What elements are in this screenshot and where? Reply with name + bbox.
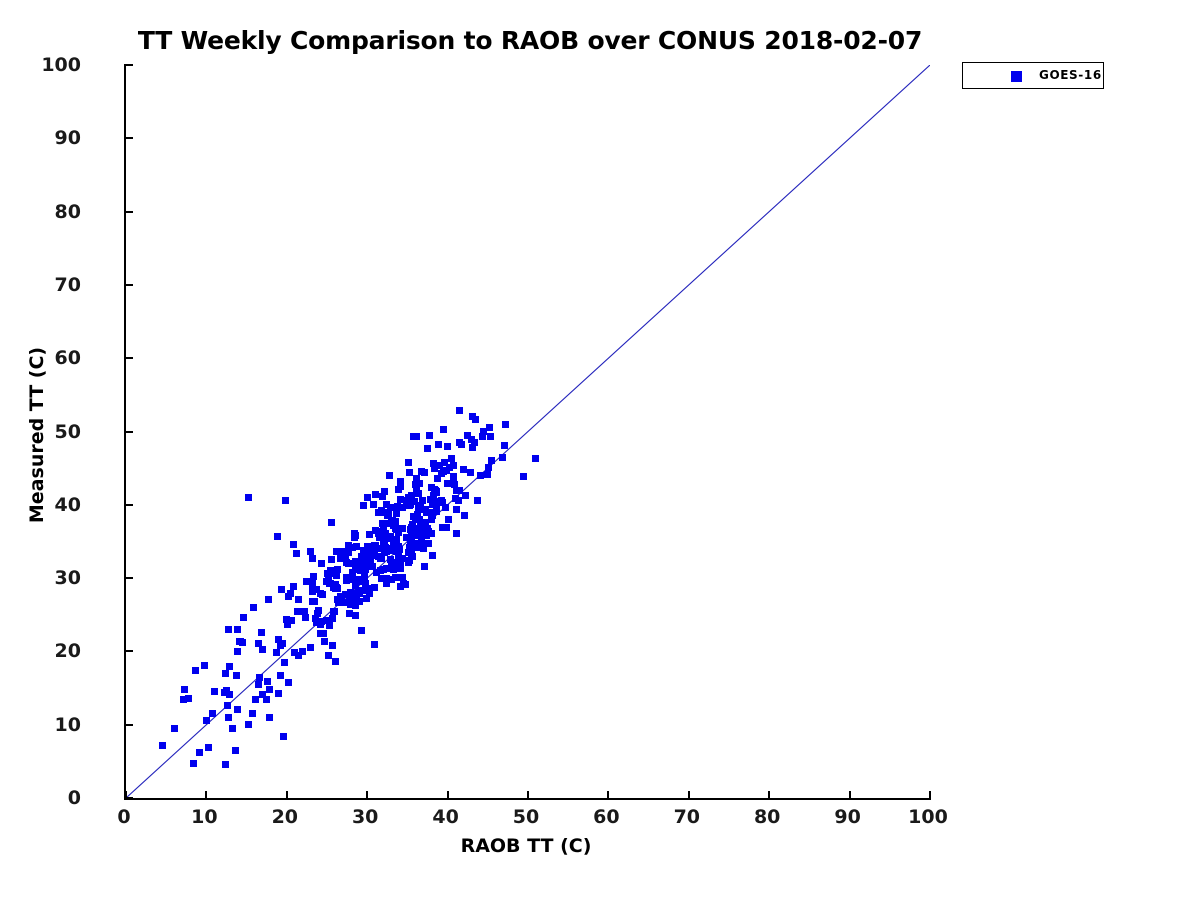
y-tick-label-70: 70 bbox=[55, 274, 81, 296]
x-tick-label-0: 0 bbox=[117, 806, 130, 828]
x-tick-80 bbox=[768, 791, 770, 800]
x-tick-30 bbox=[366, 791, 368, 800]
x-tick-40 bbox=[447, 791, 449, 800]
y-axis-title: Measured TT (C) bbox=[26, 235, 48, 635]
y-tick-label-50: 50 bbox=[55, 421, 81, 443]
y-tick-label-0: 0 bbox=[68, 787, 81, 809]
x-tick-label-70: 70 bbox=[674, 806, 700, 828]
x-tick-label-100: 100 bbox=[908, 806, 948, 828]
x-tick-label-10: 10 bbox=[191, 806, 217, 828]
y-tick-80 bbox=[124, 211, 133, 213]
legend-swatch-goes-16 bbox=[1011, 71, 1022, 82]
y-tick-20 bbox=[124, 650, 133, 652]
x-tick-60 bbox=[607, 791, 609, 800]
x-tick-label-20: 20 bbox=[272, 806, 298, 828]
y-tick-40 bbox=[124, 504, 133, 506]
y-tick-label-100: 100 bbox=[41, 54, 81, 76]
x-tick-100 bbox=[929, 791, 931, 800]
x-tick-label-80: 80 bbox=[754, 806, 780, 828]
legend-label-goes-16: GOES-16 bbox=[1039, 68, 1102, 82]
y-tick-label-30: 30 bbox=[55, 567, 81, 589]
scatter-plot-canvas bbox=[126, 65, 930, 798]
y-tick-label-60: 60 bbox=[55, 347, 81, 369]
y-tick-10 bbox=[124, 724, 133, 726]
x-tick-20 bbox=[286, 791, 288, 800]
x-tick-label-30: 30 bbox=[352, 806, 378, 828]
y-tick-70 bbox=[124, 284, 133, 286]
y-tick-100 bbox=[124, 64, 133, 66]
x-tick-label-60: 60 bbox=[593, 806, 619, 828]
y-tick-label-20: 20 bbox=[55, 640, 81, 662]
x-tick-10 bbox=[205, 791, 207, 800]
y-tick-label-80: 80 bbox=[55, 201, 81, 223]
legend-box: GOES-16 bbox=[962, 62, 1104, 89]
y-tick-30 bbox=[124, 577, 133, 579]
y-tick-60 bbox=[124, 357, 133, 359]
page-title: TT Weekly Comparison to RAOB over CONUS … bbox=[0, 26, 1060, 55]
y-tick-90 bbox=[124, 137, 133, 139]
x-axis-title: RAOB TT (C) bbox=[124, 835, 928, 857]
x-tick-50 bbox=[527, 791, 529, 800]
y-tick-label-90: 90 bbox=[55, 127, 81, 149]
plot-area bbox=[124, 65, 930, 800]
y-tick-0 bbox=[124, 797, 133, 799]
y-tick-label-40: 40 bbox=[55, 494, 81, 516]
chart-figure: TT Weekly Comparison to RAOB over CONUS … bbox=[0, 0, 1200, 900]
x-tick-label-50: 50 bbox=[513, 806, 539, 828]
x-tick-90 bbox=[849, 791, 851, 800]
x-tick-70 bbox=[688, 791, 690, 800]
x-tick-label-90: 90 bbox=[834, 806, 860, 828]
y-tick-50 bbox=[124, 431, 133, 433]
y-tick-label-10: 10 bbox=[55, 714, 81, 736]
x-tick-label-40: 40 bbox=[432, 806, 458, 828]
